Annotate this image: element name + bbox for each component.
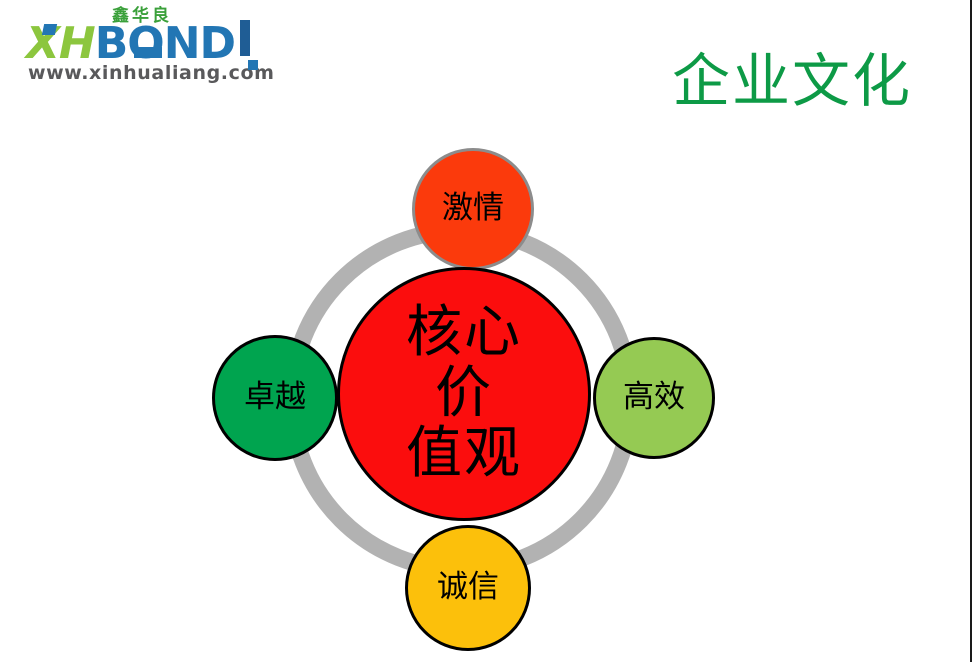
- value-node-passion: 激情: [412, 148, 534, 270]
- value-node-excellence: 卓越: [212, 335, 338, 461]
- core-values-hub-label: 核心价值观: [389, 303, 539, 484]
- value-node-integrity: 诚信: [405, 525, 531, 651]
- value-node-excellence-label: 卓越: [244, 381, 306, 414]
- value-node-integrity-label: 诚信: [437, 571, 499, 604]
- value-node-efficiency: 高效: [593, 337, 715, 459]
- value-node-efficiency-label: 高效: [623, 381, 685, 414]
- company-logo: 鑫华良 XHBOND www.xinhualiang.com: [26, 6, 276, 86]
- page-title: 企业文化: [672, 50, 912, 114]
- logo-bar-accent-icon: [134, 47, 162, 58]
- logo-website-url: www.xinhualiang.com: [28, 64, 275, 83]
- logo-stem-accent-icon: [240, 20, 250, 56]
- logo-brand-text: XHBOND: [26, 22, 235, 66]
- core-values-hub-line2: 值观: [389, 424, 539, 484]
- core-values-hub: 核心价值观: [337, 267, 591, 521]
- core-values-diagram: 核心价值观 激情 高效 诚信 卓越: [197, 135, 727, 662]
- core-values-hub-line1: 核心价: [389, 303, 539, 424]
- logo-url-dot-icon: [248, 60, 258, 70]
- logo-check-accent-icon: [42, 24, 57, 35]
- value-node-passion-label: 激情: [442, 192, 504, 225]
- slide-canvas: 鑫华良 XHBOND www.xinhualiang.com 企业文化 核心价值…: [0, 0, 972, 662]
